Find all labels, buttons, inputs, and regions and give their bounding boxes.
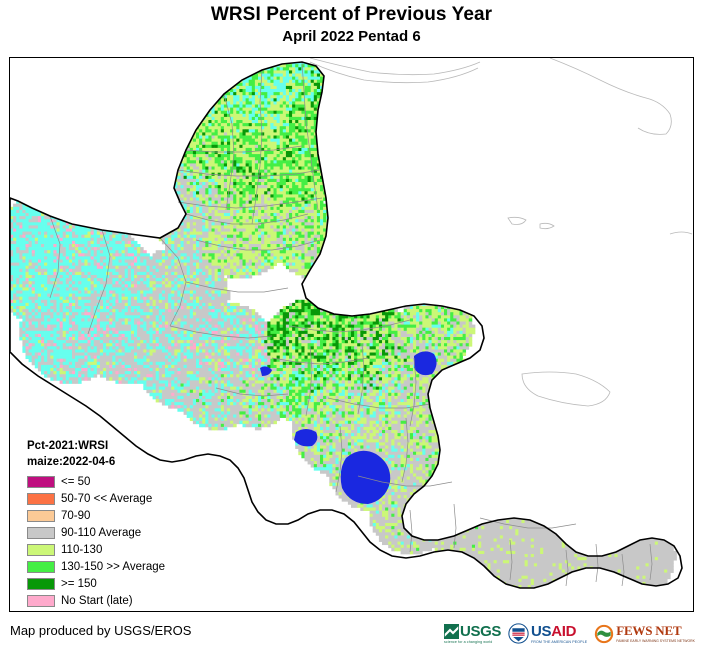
legend-swatch (27, 510, 55, 522)
map-legend: Pct-2021:WRSI maize:2022-04-6 <= 5050-70… (27, 438, 165, 612)
fewsnet-logo: FEWS NET FAMINE EARLY WARNING SYSTEMS NE… (594, 620, 695, 647)
legend-swatch (27, 561, 55, 573)
title-block: WRSI Percent of Previous Year April 2022… (0, 0, 703, 47)
legend-label: 50-70 << Average (61, 493, 152, 505)
usgs-wave-icon (444, 624, 459, 639)
usgs-logo: USGS science for a changing world (444, 620, 501, 647)
legend-entries: <= 5050-70 << Average70-9090-110 Average… (27, 473, 165, 612)
legend-title: Pct-2021:WRSI (27, 438, 165, 454)
legend-row: <= 50 (27, 473, 165, 490)
legend-label: 70-90 (61, 510, 90, 522)
usaid-word-aid: AID (551, 623, 576, 640)
fewsnet-tagline: FAMINE EARLY WARNING SYSTEMS NETWORK (616, 639, 695, 643)
legend-label: >= 150 (61, 578, 97, 590)
logo-strip: USGS science for a changing world USAID … (444, 620, 695, 647)
legend-row: 130-150 >> Average (27, 558, 165, 575)
legend-label: 90-110 Average (61, 527, 141, 539)
footer-bar: Map produced by USGS/EROS USGS science f… (0, 614, 703, 662)
legend-label: <= 50 (61, 476, 90, 488)
legend-swatch (27, 476, 55, 488)
legend-row: 70-90 (27, 507, 165, 524)
legend-label: 110-130 (61, 544, 102, 556)
legend-row: 50-70 << Average (27, 490, 165, 507)
fewsnet-wordmark: FEWS NET (616, 624, 695, 638)
legend-row: 90-110 Average (27, 524, 165, 541)
legend-row: 110-130 (27, 541, 165, 558)
legend-label: 130-150 >> Average (61, 561, 165, 573)
legend-row: No Start (late) (27, 592, 165, 609)
legend-swatch (27, 527, 55, 539)
legend-row: Yet to Start (27, 609, 165, 612)
map-frame[interactable]: Pct-2021:WRSI maize:2022-04-6 <= 5050-70… (9, 57, 694, 612)
legend-label: Yet to Start (61, 612, 117, 613)
usaid-logo: USAID FROM THE AMERICAN PEOPLE (508, 620, 587, 647)
legend-swatch (27, 544, 55, 556)
usgs-tagline: science for a changing world (444, 640, 492, 644)
fewsnet-globe-icon (594, 624, 614, 644)
usaid-wordmark: USAID (531, 624, 587, 639)
usaid-word-us: US (531, 623, 551, 640)
legend-subtitle: maize:2022-04-6 (27, 454, 165, 470)
legend-row: >= 150 (27, 575, 165, 592)
legend-swatch (27, 612, 55, 613)
legend-swatch (27, 493, 55, 505)
laguna-caratasca (414, 351, 437, 375)
usgs-wordmark: USGS (460, 624, 501, 639)
legend-swatch (27, 595, 55, 607)
legend-swatch (27, 578, 55, 590)
page-title: WRSI Percent of Previous Year (0, 4, 703, 26)
usaid-seal-icon (508, 623, 529, 644)
page-subtitle: April 2022 Pentad 6 (0, 27, 703, 47)
map-credit: Map produced by USGS/EROS (10, 623, 191, 638)
usaid-tagline: FROM THE AMERICAN PEOPLE (531, 640, 587, 644)
legend-label: No Start (late) (61, 595, 133, 607)
